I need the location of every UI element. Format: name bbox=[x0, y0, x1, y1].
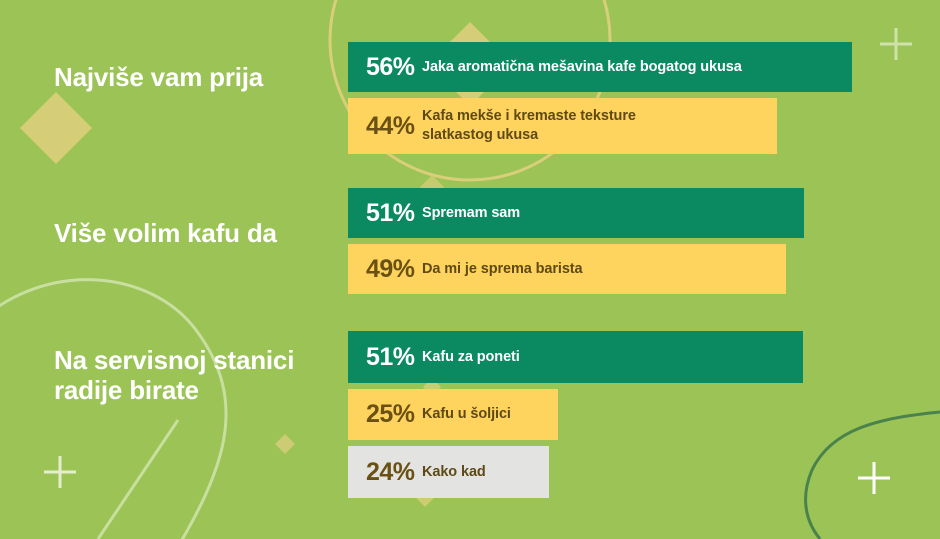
bar-list-3: 51% Kafu za poneti 25% Kafu u šoljici 24… bbox=[348, 331, 803, 504]
bar-list-2: 51% Spremam sam 49% Da mi je sprema bari… bbox=[348, 188, 804, 300]
question-label-3: Na servisnoj stanici radije birate bbox=[54, 345, 294, 406]
bar-label: Kafu za poneti bbox=[422, 348, 520, 367]
bar-percent: 44% bbox=[348, 114, 422, 139]
bar-percent: 56% bbox=[348, 55, 422, 80]
bar-label: Kako kad bbox=[422, 463, 486, 482]
bar-list-1: 56% Jaka aromatična mešavina kafe bogato… bbox=[348, 42, 852, 160]
question-label-2: Više volim kafu da bbox=[54, 218, 277, 248]
bar-row[interactable]: 51% Kafu za poneti bbox=[348, 331, 803, 383]
bar-percent: 49% bbox=[348, 257, 422, 282]
bar-label: Da mi je sprema barista bbox=[422, 260, 583, 279]
infographic-canvas: Najviše vam prija 56% Jaka aromatična me… bbox=[0, 0, 940, 539]
bar-row[interactable]: 25% Kafu u šoljici bbox=[348, 389, 558, 440]
bar-label: Spremam sam bbox=[422, 204, 520, 223]
bar-label: Jaka aromatična mešavina kafe bogatog uk… bbox=[422, 58, 742, 77]
bar-percent: 24% bbox=[348, 460, 422, 485]
bar-percent: 51% bbox=[348, 345, 422, 370]
bar-label: Kafu u šoljici bbox=[422, 405, 511, 424]
question-label-1: Najviše vam prija bbox=[54, 62, 263, 92]
chart-content: Najviše vam prija 56% Jaka aromatična me… bbox=[0, 0, 940, 539]
bar-row[interactable]: 24% Kako kad bbox=[348, 446, 549, 498]
bar-percent: 51% bbox=[348, 201, 422, 226]
bar-row[interactable]: 51% Spremam sam bbox=[348, 188, 804, 238]
bar-percent: 25% bbox=[348, 402, 422, 427]
bar-row[interactable]: 49% Da mi je sprema barista bbox=[348, 244, 786, 294]
bar-label: Kafa mekše i kremaste teksture slatkasto… bbox=[422, 107, 636, 145]
bar-row[interactable]: 44% Kafa mekše i kremaste teksture slatk… bbox=[348, 98, 777, 154]
bar-row[interactable]: 56% Jaka aromatična mešavina kafe bogato… bbox=[348, 42, 852, 92]
